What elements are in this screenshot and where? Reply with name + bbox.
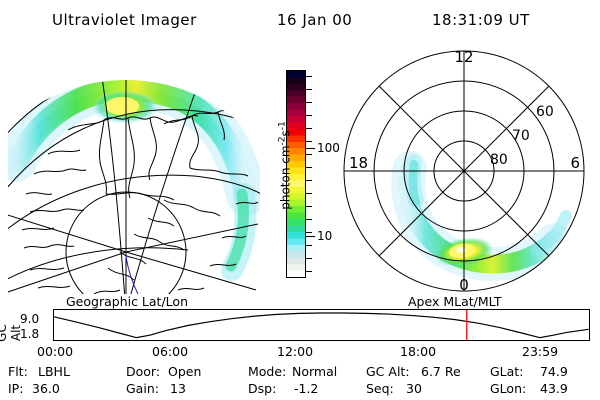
orbit-altitude-curve	[54, 313, 589, 338]
colorbar-tick-label-10: 10	[317, 230, 332, 242]
status-gcalt-value: 6.7 Re	[421, 364, 461, 379]
geographic-plot	[8, 44, 260, 294]
status-glat-value: 74.9	[540, 364, 568, 379]
status-seq-value: 30	[406, 381, 422, 396]
mlt-label-0: 0	[459, 276, 469, 294]
colorbar-tick-label-100: 100	[317, 142, 340, 154]
status-ip-value: 36.0	[32, 381, 60, 396]
status-flt-label: Flt:	[8, 364, 28, 379]
status-glat-label: GLat:	[490, 364, 523, 379]
colorbar[interactable]: 100 10 photon cm-2s-1	[264, 62, 340, 294]
apex-polar-plot: 12 6 0 18 60 70 80	[340, 44, 590, 294]
time-tick-0000: 00:00	[37, 344, 73, 359]
colorbar-ticks	[306, 70, 316, 278]
gc-alt-tick-high: 9.0	[20, 313, 39, 325]
time-axis: 00:00 06:00 12:00 18:00 23:59	[0, 344, 600, 360]
uvi-display-window: Ultraviolet Imager 16 Jan 00 18:31:09 UT	[0, 0, 600, 400]
status-flt-value: LBHL	[38, 364, 70, 379]
orbit-plot-frame	[53, 309, 590, 341]
colorbar-axis-title-main: photon cm	[279, 145, 293, 209]
status-glon-value: 43.9	[540, 381, 568, 396]
status-dsp-value: -1.2	[294, 381, 318, 396]
status-glon-label: GLon:	[490, 381, 526, 396]
status-gcalt-label: GC Alt:	[366, 364, 410, 379]
aurora-emission-geographic	[16, 89, 246, 270]
mlat-ring-label-80: 80	[490, 152, 508, 168]
colorbar-axis-title: photon cm-2s-1	[278, 91, 293, 241]
time-tick-2359: 23:59	[522, 344, 558, 359]
mlt-label-12: 12	[454, 48, 473, 66]
status-gain-value: 13	[170, 381, 186, 396]
observation-date: 16 Jan 00	[277, 11, 352, 29]
time-tick-1200: 12:00	[277, 344, 313, 359]
colorbar-axis-title-exp1: -2	[278, 136, 288, 145]
orbit-altitude-plot[interactable]: GC Alt 9.0 1.8	[0, 306, 600, 346]
orbit-track-svg	[54, 310, 589, 340]
status-readout: Flt: LBHL Door: Open Mode: Normal GC Alt…	[0, 364, 600, 398]
geographic-image-panel[interactable]	[8, 44, 260, 294]
time-tick-1800: 18:00	[400, 344, 436, 359]
colorbar-axis-title-exp2: -1	[278, 121, 288, 130]
mlat-ring-label-60: 60	[536, 104, 554, 120]
status-door-value: Open	[168, 364, 201, 379]
observation-time: 18:31:09 UT	[432, 11, 530, 29]
status-mode-label: Mode:	[248, 364, 286, 379]
magnetic-apex-panel[interactable]: 12 6 0 18 60 70 80	[340, 44, 590, 294]
mlt-spokes	[344, 51, 584, 291]
mlt-label-18: 18	[349, 154, 368, 172]
status-ip-label: IP:	[8, 381, 23, 396]
gc-alt-axis-label: GC Alt	[2, 310, 16, 340]
status-gain-label: Gain:	[126, 381, 159, 396]
gc-alt-tick-low: 1.8	[20, 328, 39, 340]
mlt-label-6: 6	[570, 154, 580, 172]
time-tick-0600: 06:00	[152, 344, 188, 359]
status-door-label: Door:	[126, 364, 160, 379]
colorbar-axis-title-mid: s	[279, 130, 293, 136]
header-bar: Ultraviolet Imager 16 Jan 00 18:31:09 UT	[0, 5, 600, 31]
status-mode-value: Normal	[292, 364, 337, 379]
status-seq-label: Seq:	[366, 381, 394, 396]
status-dsp-label: Dsp:	[248, 381, 276, 396]
page-title: Ultraviolet Imager	[52, 11, 197, 29]
mlat-ring-label-70: 70	[512, 128, 530, 144]
